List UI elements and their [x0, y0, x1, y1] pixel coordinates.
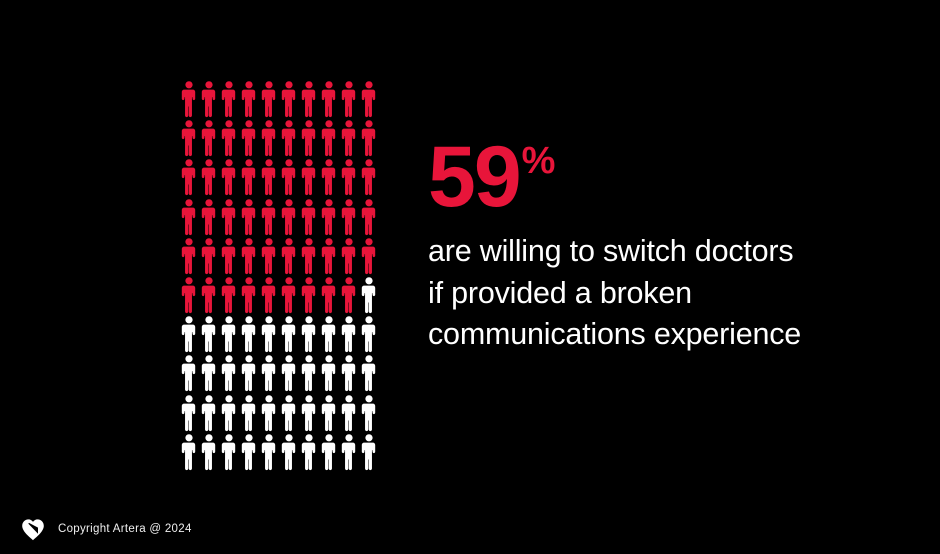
person-icon-filled [219, 118, 239, 157]
person-icon-filled [299, 79, 319, 118]
person-icon-empty [359, 432, 379, 471]
person-icon-filled [359, 157, 379, 196]
person-icon-empty [239, 393, 259, 432]
person-icon-filled [279, 118, 299, 157]
person-icon-empty [319, 353, 339, 392]
stat-percent-symbol: % [522, 142, 556, 180]
person-icon-filled [339, 157, 359, 196]
person-icon-empty [279, 314, 299, 353]
person-icon-empty [279, 432, 299, 471]
person-icon-filled [359, 197, 379, 236]
person-icon-filled [239, 275, 259, 314]
person-icon-empty [319, 314, 339, 353]
person-icon-filled [339, 118, 359, 157]
person-icon-filled [299, 118, 319, 157]
person-icon-filled [199, 236, 219, 275]
person-icon-filled [359, 79, 379, 118]
person-icon-empty [319, 393, 339, 432]
person-icon-empty [339, 314, 359, 353]
stat-description-line-3: communications experience [428, 314, 898, 355]
person-icon-filled [259, 118, 279, 157]
person-icon-empty [259, 432, 279, 471]
person-icon-filled [299, 197, 319, 236]
person-icon-empty [219, 353, 239, 392]
person-icon-filled [279, 236, 299, 275]
person-icon-filled [359, 118, 379, 157]
person-icon-filled [219, 157, 239, 196]
person-icon-empty [239, 353, 259, 392]
person-icon-filled [359, 236, 379, 275]
person-icon-filled [279, 197, 299, 236]
person-icon-empty [259, 353, 279, 392]
person-icon-filled [239, 157, 259, 196]
person-icon-empty [299, 432, 319, 471]
person-icon-filled [299, 275, 319, 314]
person-icon-filled [179, 157, 199, 196]
pictogram-chart [179, 79, 379, 471]
person-icon-empty [299, 353, 319, 392]
person-icon-empty [199, 353, 219, 392]
person-icon-filled [339, 275, 359, 314]
person-icon-filled [239, 236, 259, 275]
person-icon-filled [319, 157, 339, 196]
person-icon-empty [199, 393, 219, 432]
person-icon-empty [259, 393, 279, 432]
person-icon-filled [179, 236, 199, 275]
person-icon-filled [199, 197, 219, 236]
artera-heart-logo-icon [20, 516, 46, 542]
stat-description: are willing to switch doctors if provide… [428, 231, 898, 355]
person-icon-filled [219, 275, 239, 314]
person-icon-empty [179, 314, 199, 353]
person-icon-filled [339, 79, 359, 118]
person-icon-filled [199, 79, 219, 118]
person-icon-filled [319, 79, 339, 118]
person-icon-filled [259, 275, 279, 314]
person-icon-empty [279, 393, 299, 432]
person-icon-filled [259, 157, 279, 196]
person-icon-filled [199, 275, 219, 314]
person-icon-empty [239, 432, 259, 471]
footer: Copyright Artera @ 2024 [20, 516, 192, 542]
person-icon-empty [219, 432, 239, 471]
person-icon-filled [299, 157, 319, 196]
person-icon-filled [319, 197, 339, 236]
stat-description-line-1: are willing to switch doctors [428, 231, 898, 272]
person-icon-filled [179, 118, 199, 157]
person-icon-filled [279, 157, 299, 196]
person-icon-empty [199, 314, 219, 353]
person-icon-filled [259, 236, 279, 275]
stat-number: 59 [428, 138, 520, 217]
person-icon-filled [259, 79, 279, 118]
person-icon-empty [299, 314, 319, 353]
stat-headline: 59 % [428, 138, 898, 217]
person-icon-empty [279, 353, 299, 392]
person-icon-filled [319, 275, 339, 314]
person-icon-filled [179, 197, 199, 236]
person-icon-empty [339, 432, 359, 471]
person-icon-empty [359, 353, 379, 392]
person-icon-empty [259, 314, 279, 353]
person-icon-filled [319, 236, 339, 275]
person-icon-filled [259, 197, 279, 236]
person-icon-filled [219, 236, 239, 275]
stat-description-line-2: if provided a broken [428, 273, 898, 314]
infographic-canvas: 59 % are willing to switch doctors if pr… [0, 0, 940, 554]
person-icon-empty [219, 314, 239, 353]
person-icon-empty [179, 353, 199, 392]
person-icon-filled [219, 79, 239, 118]
person-icon-filled [319, 118, 339, 157]
person-icon-filled [239, 197, 259, 236]
person-icon-filled [239, 79, 259, 118]
person-icon-empty [359, 393, 379, 432]
copyright-text: Copyright Artera @ 2024 [58, 523, 192, 535]
person-icon-empty [299, 393, 319, 432]
person-icon-empty [179, 432, 199, 471]
person-icon-filled [299, 236, 319, 275]
person-icon-empty [339, 393, 359, 432]
stat-copy-block: 59 % are willing to switch doctors if pr… [428, 138, 898, 356]
person-icon-empty [359, 314, 379, 353]
person-icon-empty [319, 432, 339, 471]
person-icon-empty [359, 275, 379, 314]
person-icon-filled [339, 197, 359, 236]
person-icon-filled [179, 275, 199, 314]
person-icon-empty [199, 432, 219, 471]
person-icon-empty [179, 393, 199, 432]
person-icon-empty [219, 393, 239, 432]
person-icon-filled [239, 118, 259, 157]
person-icon-filled [279, 79, 299, 118]
person-icon-filled [339, 236, 359, 275]
person-icon-empty [339, 353, 359, 392]
person-icon-filled [219, 197, 239, 236]
person-icon-filled [199, 118, 219, 157]
person-icon-filled [179, 79, 199, 118]
person-icon-filled [279, 275, 299, 314]
person-icon-empty [239, 314, 259, 353]
person-icon-filled [199, 157, 219, 196]
